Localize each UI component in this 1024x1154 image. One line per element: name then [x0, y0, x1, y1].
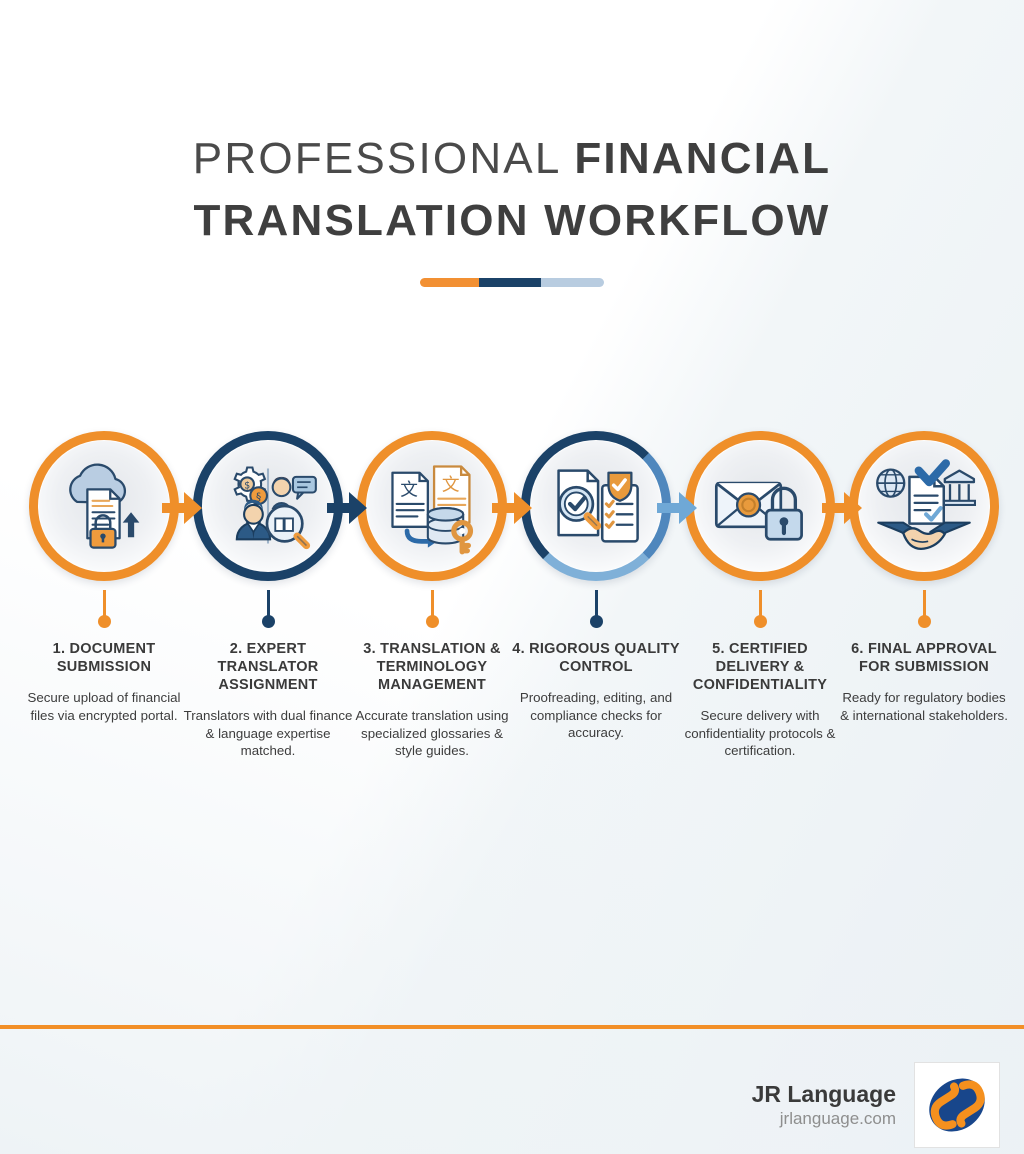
workflow-step-6[interactable]: 6. FINAL APPROVAL FOR SUBMISSION Ready f… [842, 424, 1006, 804]
accent-segment-navy [479, 278, 542, 287]
brand-name: JR Language [752, 1081, 896, 1108]
title-line-2: TRANSLATION WORKFLOW [0, 190, 1024, 252]
accent-segment-lightblue [541, 278, 604, 287]
arrow-step-1-to-2 [160, 489, 204, 527]
workflow-step-4[interactable]: 4. RIGOROUS QUALITY CONTROL Proofreading… [514, 424, 678, 804]
workflow-steps: 1. DOCUMENT SUBMISSION Secure upload of … [0, 424, 1024, 804]
step-5-dot [754, 615, 767, 628]
accent-segment-orange [420, 278, 479, 287]
arrow-step-2-to-3 [325, 489, 369, 527]
step-2-dot [262, 615, 275, 628]
arrow-step-3-to-4 [490, 489, 534, 527]
step-3-dot [426, 615, 439, 628]
brand-text: JR Language jrlanguage.com [752, 1081, 896, 1130]
step-3-title: 3. TRANSLATION & TERMINOLOGY MANAGEMENT [348, 640, 516, 694]
step-6-circle [842, 424, 1006, 588]
magnifier-checklist-shield-icon [531, 441, 661, 571]
svg-text:文: 文 [442, 474, 460, 495]
title-line-1: PROFESSIONAL FINANCIAL [0, 128, 1024, 190]
step-4-circle [514, 424, 678, 588]
step-6-dot [918, 615, 931, 628]
step-1-dot [98, 615, 111, 628]
svg-text:文: 文 [400, 480, 418, 501]
arrow-step-4-to-5 [655, 489, 699, 527]
step-5-title: 5. CERTIFIED DELIVERY & CONFIDENTIALITY [676, 640, 844, 694]
step-4-dot [590, 615, 603, 628]
infographic-page: PROFESSIONAL FINANCIAL TRANSLATION WORKF… [0, 0, 1024, 1154]
footer-branding: JR Language jrlanguage.com [752, 1062, 1000, 1148]
step-6-title: 6. FINAL APPROVAL FOR SUBMISSION [840, 640, 1008, 676]
documents-database-key-icon: 文 文 [367, 441, 497, 571]
step-1-stem [103, 590, 106, 616]
step-4-title: 4. RIGOROUS QUALITY CONTROL [512, 640, 680, 676]
sealed-envelope-padlock-icon [695, 441, 825, 571]
step-1-title: 1. DOCUMENT SUBMISSION [20, 640, 188, 676]
cloud-document-lock-icon [39, 441, 169, 571]
workflow-step-3[interactable]: 文 文 [350, 424, 514, 804]
step-1-description: Secure upload of financial files via enc… [18, 689, 190, 724]
step-3-stem [431, 590, 434, 616]
workflow-step-5[interactable]: 5. CERTIFIED DELIVERY & CONFIDENTIALITY … [678, 424, 842, 804]
title-word-financial: FINANCIAL [574, 134, 831, 183]
step-5-stem [759, 590, 762, 616]
page-title: PROFESSIONAL FINANCIAL TRANSLATION WORKF… [0, 0, 1024, 287]
workflow-step-1[interactable]: 1. DOCUMENT SUBMISSION Secure upload of … [22, 424, 186, 804]
step-6-description: Ready for regulatory bodies & internatio… [838, 689, 1010, 724]
brand-url[interactable]: jrlanguage.com [752, 1108, 896, 1130]
title-word-professional: PROFESSIONAL [193, 134, 575, 183]
step-2-title: 2. EXPERT TRANSLATOR ASSIGNMENT [184, 640, 352, 694]
step-5-description: Secure delivery with confidentiality pro… [674, 707, 846, 760]
svg-text:$: $ [244, 480, 250, 491]
title-accent-bar [420, 278, 604, 287]
translator-people-expertise-icon: $ § [203, 441, 333, 571]
handshake-globe-bank-icon [859, 441, 989, 571]
step-4-description: Proofreading, editing, and compliance ch… [510, 689, 682, 742]
arrow-step-5-to-6 [820, 489, 864, 527]
step-2-stem [267, 590, 270, 616]
step-2-description: Translators with dual finance & language… [182, 707, 354, 760]
step-4-stem [595, 590, 598, 616]
footer-divider [0, 1025, 1024, 1029]
step-3-description: Accurate translation using specialized g… [346, 707, 518, 760]
step-5-circle [678, 424, 842, 588]
workflow-step-2[interactable]: $ § [186, 424, 350, 804]
step-6-stem [923, 590, 926, 616]
jr-language-logo [914, 1062, 1000, 1148]
